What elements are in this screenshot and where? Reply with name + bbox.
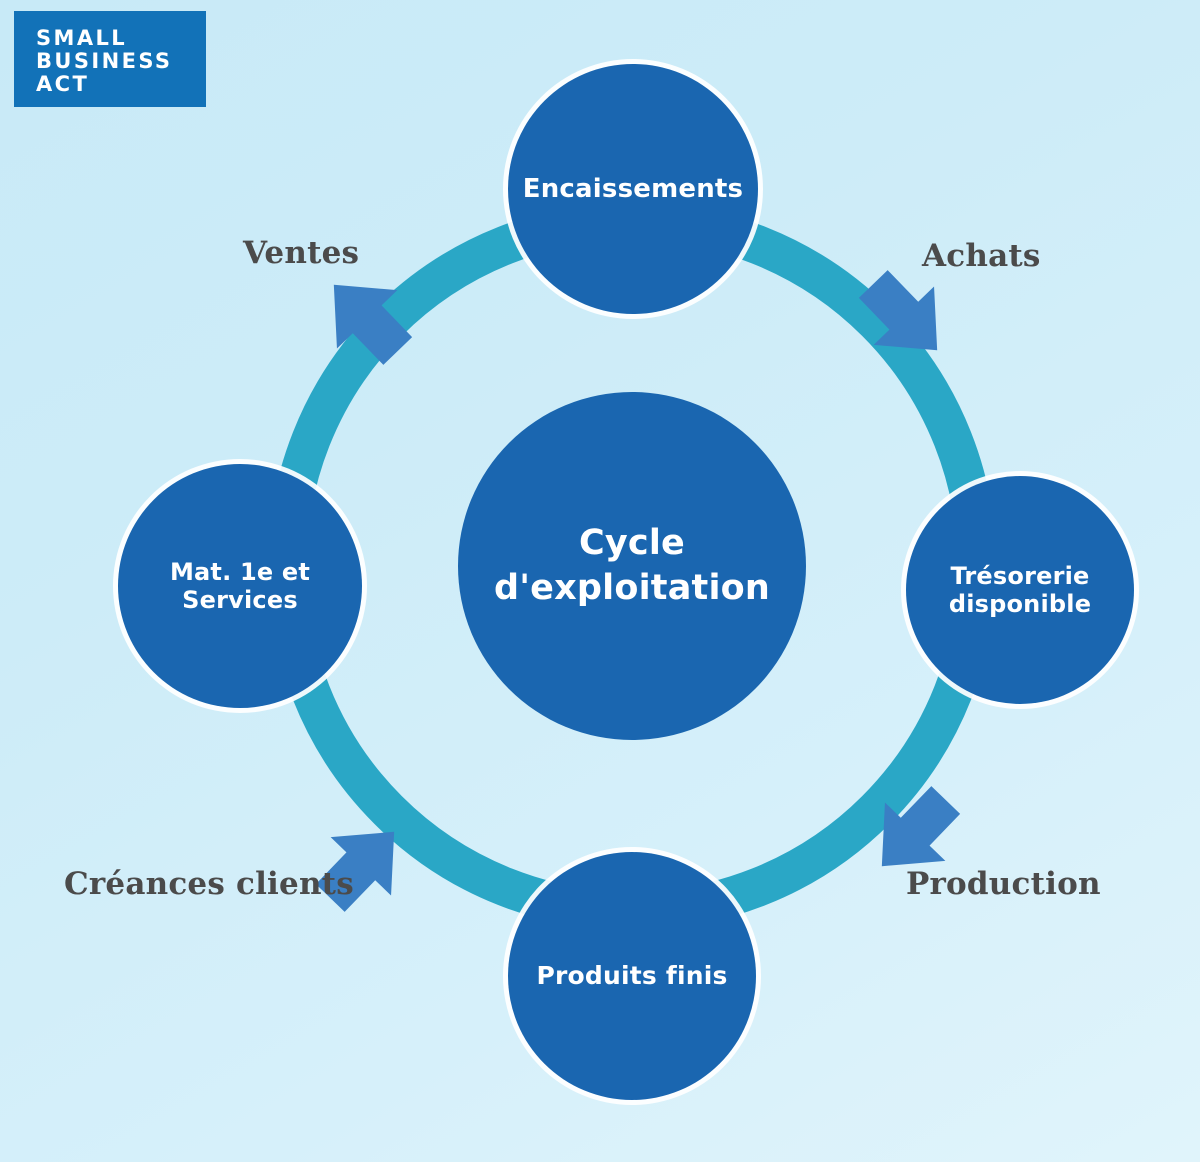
node-produits-finis-label: Produits finis	[530, 961, 733, 991]
node-produits-finis: Produits finis	[508, 852, 756, 1100]
edge-label-production: Production	[906, 866, 1101, 902]
center-node: Cycle d'exploitation	[458, 392, 806, 740]
edge-label-ventes: Ventes	[243, 235, 359, 271]
edge-label-achats: Achats	[922, 238, 1041, 274]
node-encaissements-label: Encaissements	[517, 174, 749, 205]
node-matieres: Mat. 1e et Services	[118, 464, 362, 708]
node-tresorerie-label: Trésorerie disponible	[906, 562, 1134, 619]
diagram-canvas: SMALL BUSINESS ACT Cycle d'exploitation …	[0, 0, 1200, 1162]
center-node-label: Cycle d'exploitation	[458, 521, 806, 612]
node-tresorerie: Trésorerie disponible	[906, 476, 1134, 704]
edge-label-creances-clients: Créances clients	[64, 866, 354, 902]
node-encaissements: Encaissements	[508, 64, 758, 314]
node-matieres-label: Mat. 1e et Services	[118, 558, 362, 615]
